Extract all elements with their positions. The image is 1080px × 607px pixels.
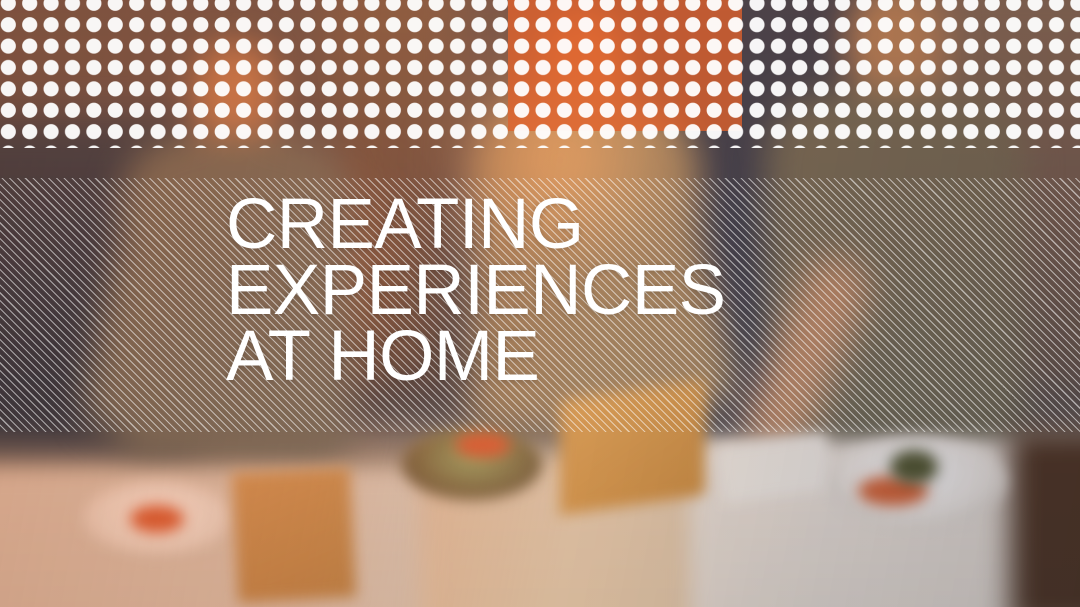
title-line-3: AT HOME xyxy=(226,324,726,390)
dot-grid-pattern xyxy=(0,0,1080,148)
title-card-slide: CREATING EXPERIENCES AT HOME xyxy=(0,0,1080,607)
title-line-1: CREATING xyxy=(226,192,726,258)
title-line-2: EXPERIENCES xyxy=(226,258,726,324)
page-title: CREATING EXPERIENCES AT HOME xyxy=(226,192,726,390)
